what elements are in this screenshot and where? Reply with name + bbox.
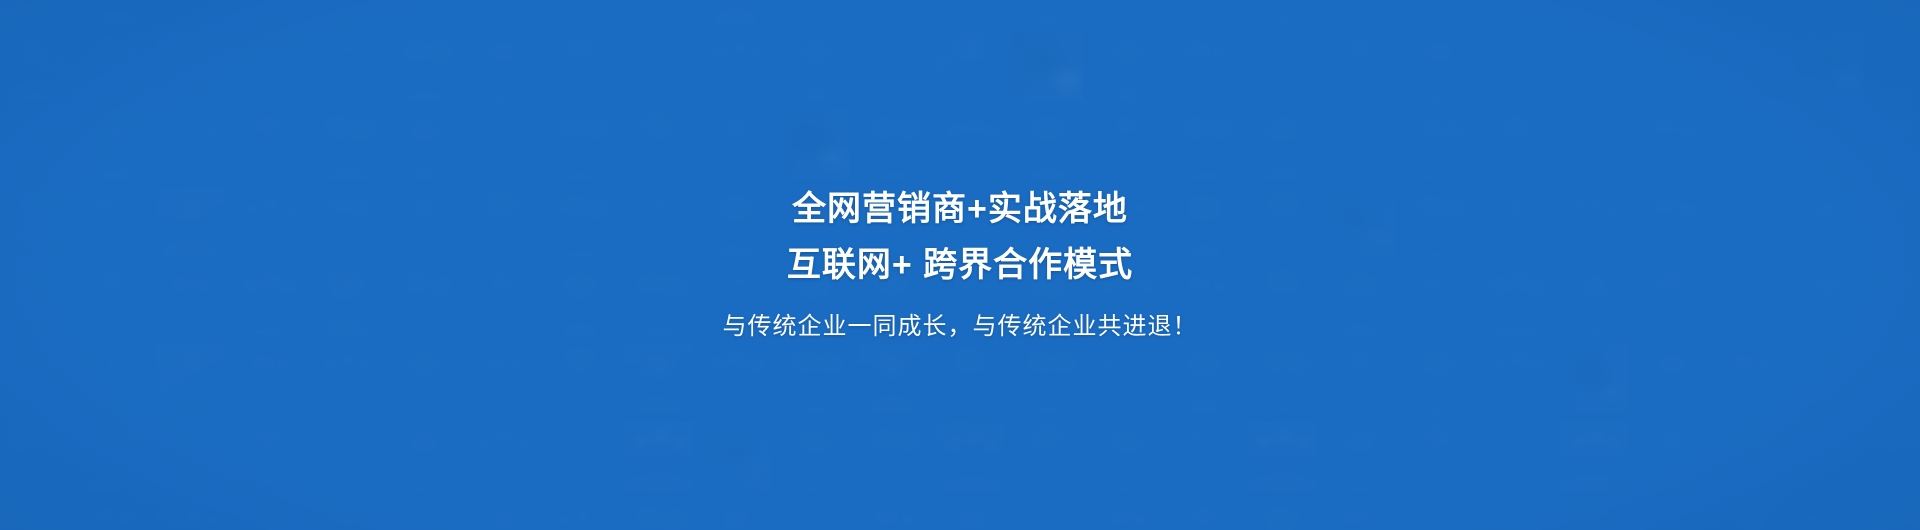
hero-banner: 全网营销商+实战落地 互联网+ 跨界合作模式 与传统企业一同成长，与传统企业共进… — [0, 0, 1920, 530]
subheadline: 与传统企业一同成长，与传统企业共进退！ — [723, 315, 1198, 339]
headline-line-1: 全网营销商+实战落地 — [792, 192, 1128, 226]
hero-copy-block: 全网营销商+实战落地 互联网+ 跨界合作模式 与传统企业一同成长，与传统企业共进… — [0, 0, 1920, 530]
headline-line-2: 互联网+ 跨界合作模式 — [787, 248, 1133, 282]
